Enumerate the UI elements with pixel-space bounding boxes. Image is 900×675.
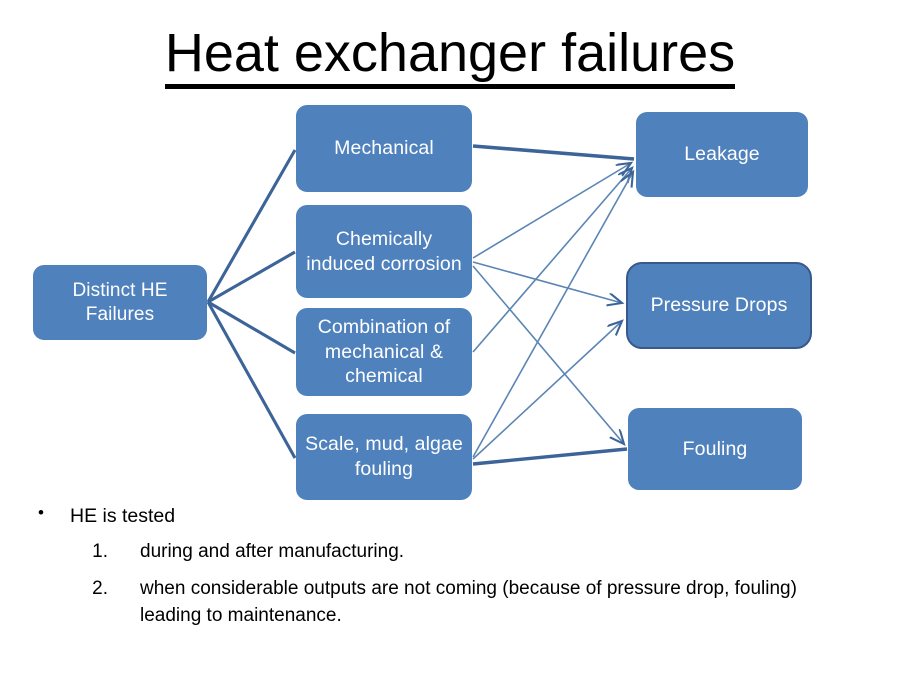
connector-chemical-to-pressure: [473, 262, 622, 303]
effect-connector-group: [473, 163, 633, 459]
node-chemically-induced-corrosion[interactable]: Chemically induced corrosion: [296, 205, 472, 298]
numbered-item-1: 1. during and after manufacturing.: [80, 539, 840, 566]
connector-root-to-mechanical: [208, 150, 295, 302]
node-mechanical[interactable]: Mechanical: [296, 105, 472, 192]
numbered-text: during and after manufacturing.: [140, 541, 404, 562]
node-label: Pressure Drops: [651, 293, 788, 318]
connector-scale-to-leakage: [473, 172, 633, 457]
connector-mechanical-to-leakage: [473, 146, 634, 159]
connector-scale-to-pressure: [473, 321, 622, 459]
node-fouling[interactable]: Fouling: [628, 408, 802, 490]
node-label: Fouling: [683, 437, 748, 462]
node-label: Scale, mud, algae fouling: [303, 432, 465, 481]
root-connector-group: [208, 150, 295, 458]
connector-scale-to-fouling: [473, 449, 627, 464]
node-label: Chemically induced corrosion: [303, 227, 465, 276]
connector-chemical-to-leakage: [473, 163, 631, 258]
connector-combination-to-leakage: [473, 168, 632, 352]
node-label: Mechanical: [334, 136, 434, 161]
bullet-item-he-is-tested: • HE is tested: [38, 503, 900, 529]
heat-exchanger-failure-diagram: Distinct HE Failures Mechanical Chemical…: [0, 0, 900, 520]
list-number: 2.: [80, 576, 108, 603]
bullet-list: • HE is tested 1. during and after manuf…: [0, 503, 900, 630]
connector-root-to-scale: [208, 302, 295, 458]
node-label: Combination of mechanical & chemical: [303, 315, 465, 389]
list-number: 1.: [80, 539, 108, 566]
bullet-text: HE is tested: [70, 505, 175, 527]
node-scale-mud-algae-fouling[interactable]: Scale, mud, algae fouling: [296, 414, 472, 500]
slide-canvas: Heat exchanger failures: [0, 0, 900, 675]
node-combination-mechanical-chemical[interactable]: Combination of mechanical & chemical: [296, 308, 472, 396]
node-label: Distinct HE Failures: [40, 279, 200, 327]
node-pressure-drops[interactable]: Pressure Drops: [626, 262, 812, 349]
node-label: Leakage: [684, 142, 760, 167]
node-leakage[interactable]: Leakage: [636, 112, 808, 197]
node-distinct-he-failures[interactable]: Distinct HE Failures: [33, 265, 207, 340]
bullet-marker-icon: •: [38, 502, 44, 525]
numbered-text: when considerable outputs are not coming…: [140, 578, 797, 626]
numbered-item-2: 2. when considerable outputs are not com…: [80, 576, 840, 630]
